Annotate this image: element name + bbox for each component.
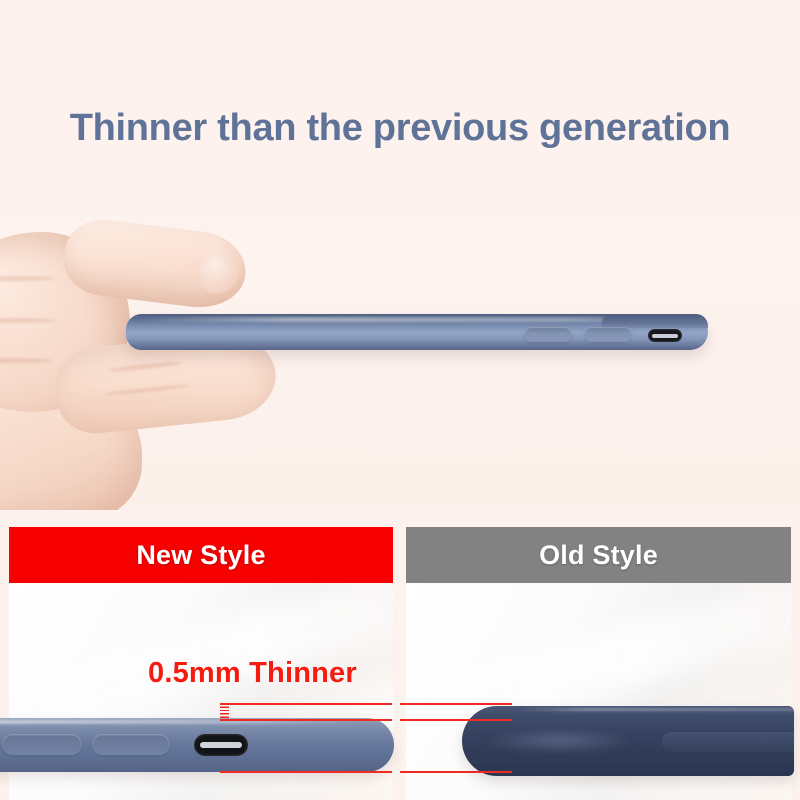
old-style-label: Old Style: [406, 527, 791, 583]
thinner-callout-label: 0.5mm Thinner: [148, 657, 357, 690]
phone-seam: [662, 732, 794, 752]
measure-line-top-right: [400, 703, 512, 705]
product-marketing-image: Thinner than the previous generation: [0, 0, 800, 800]
measure-line-bottom-right: [400, 771, 512, 773]
volume-up-button[interactable]: [2, 734, 82, 755]
camera-bump: [602, 314, 708, 328]
old-style-phone: [462, 706, 794, 778]
measure-line-bottom-left: [220, 771, 392, 773]
volume-down-button[interactable]: [584, 327, 632, 342]
hero-section: Thinner than the previous generation: [0, 0, 800, 510]
volume-up-button[interactable]: [524, 327, 572, 342]
new-style-label: New Style: [9, 527, 393, 583]
new-style-phone: [0, 718, 394, 774]
thickness-gap-hatch: [220, 703, 229, 721]
volume-down-button[interactable]: [92, 734, 170, 755]
hand-illustration: [0, 214, 272, 510]
hero-phone: [126, 310, 708, 354]
hero-phone-body: [126, 314, 708, 350]
measure-line-mid-left: [220, 719, 392, 721]
measure-line-mid-right: [400, 719, 512, 721]
measure-line-top-left: [220, 703, 392, 705]
usb-c-port-icon: [194, 734, 248, 756]
page-title: Thinner than the previous generation: [0, 107, 800, 150]
usb-c-port-icon: [648, 329, 682, 342]
new-style-phone-body: [0, 718, 394, 772]
old-style-phone-body: [462, 706, 794, 776]
